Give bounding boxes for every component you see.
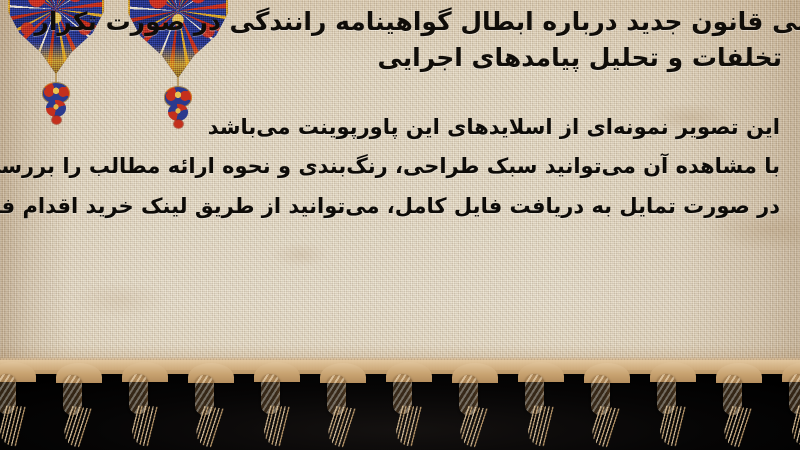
slide-body: این تصویر نمونه‌ای از اسلایدهای این پاور…: [0, 108, 780, 226]
fringe-brush: [395, 405, 422, 447]
fringe-tassel: [518, 362, 564, 448]
fringe-brush: [791, 405, 800, 447]
fringe-brush: [591, 405, 620, 448]
fringe-tassel: [716, 363, 762, 449]
slide-title-line-1: سی قانون جدید درباره ابطال گواهینامه ران…: [0, 4, 800, 40]
slide-canvas: سی قانون جدید درباره ابطال گواهینامه ران…: [0, 0, 800, 450]
slide-title-line-2: تخلفات و تحلیل پیامدهای اجرایی: [0, 40, 782, 76]
fringe-brush: [131, 405, 158, 447]
fringe-brush: [63, 405, 92, 448]
fringe-brush: [459, 405, 488, 448]
fringe-tassel: [650, 362, 696, 448]
fringe-tassel: [56, 363, 102, 449]
fringe-tassel: [452, 363, 498, 449]
slide-title: سی قانون جدید درباره ابطال گواهینامه ران…: [0, 4, 782, 75]
fringe-brush: [723, 405, 752, 448]
fringe-brush: [659, 405, 686, 447]
fringe-tassel: [386, 362, 432, 448]
fringe-tassel: [0, 362, 36, 448]
carpet-fringe-tassels: [0, 360, 800, 450]
slide-body-line-2: با مشاهده آن می‌توانید سبک طراحی، رنگ‌بن…: [0, 147, 780, 186]
fringe-tassel: [584, 363, 630, 449]
slide-body-line-3: در صورت تمایل به دریافت فایل کامل، می‌تو…: [0, 187, 780, 226]
fringe-brush: [195, 405, 224, 448]
fringe-brush: [0, 405, 26, 447]
slide-body-line-1: این تصویر نمونه‌ای از اسلایدهای این پاور…: [0, 108, 780, 147]
fringe-tassel: [254, 362, 300, 448]
fringe-tassel: [122, 362, 168, 448]
fringe-brush: [527, 405, 554, 447]
fringe-tassel: [782, 362, 800, 448]
fringe-brush: [327, 405, 356, 448]
fringe-tassel: [320, 363, 366, 449]
fringe-brush: [263, 405, 290, 447]
fringe-tassel: [188, 363, 234, 449]
